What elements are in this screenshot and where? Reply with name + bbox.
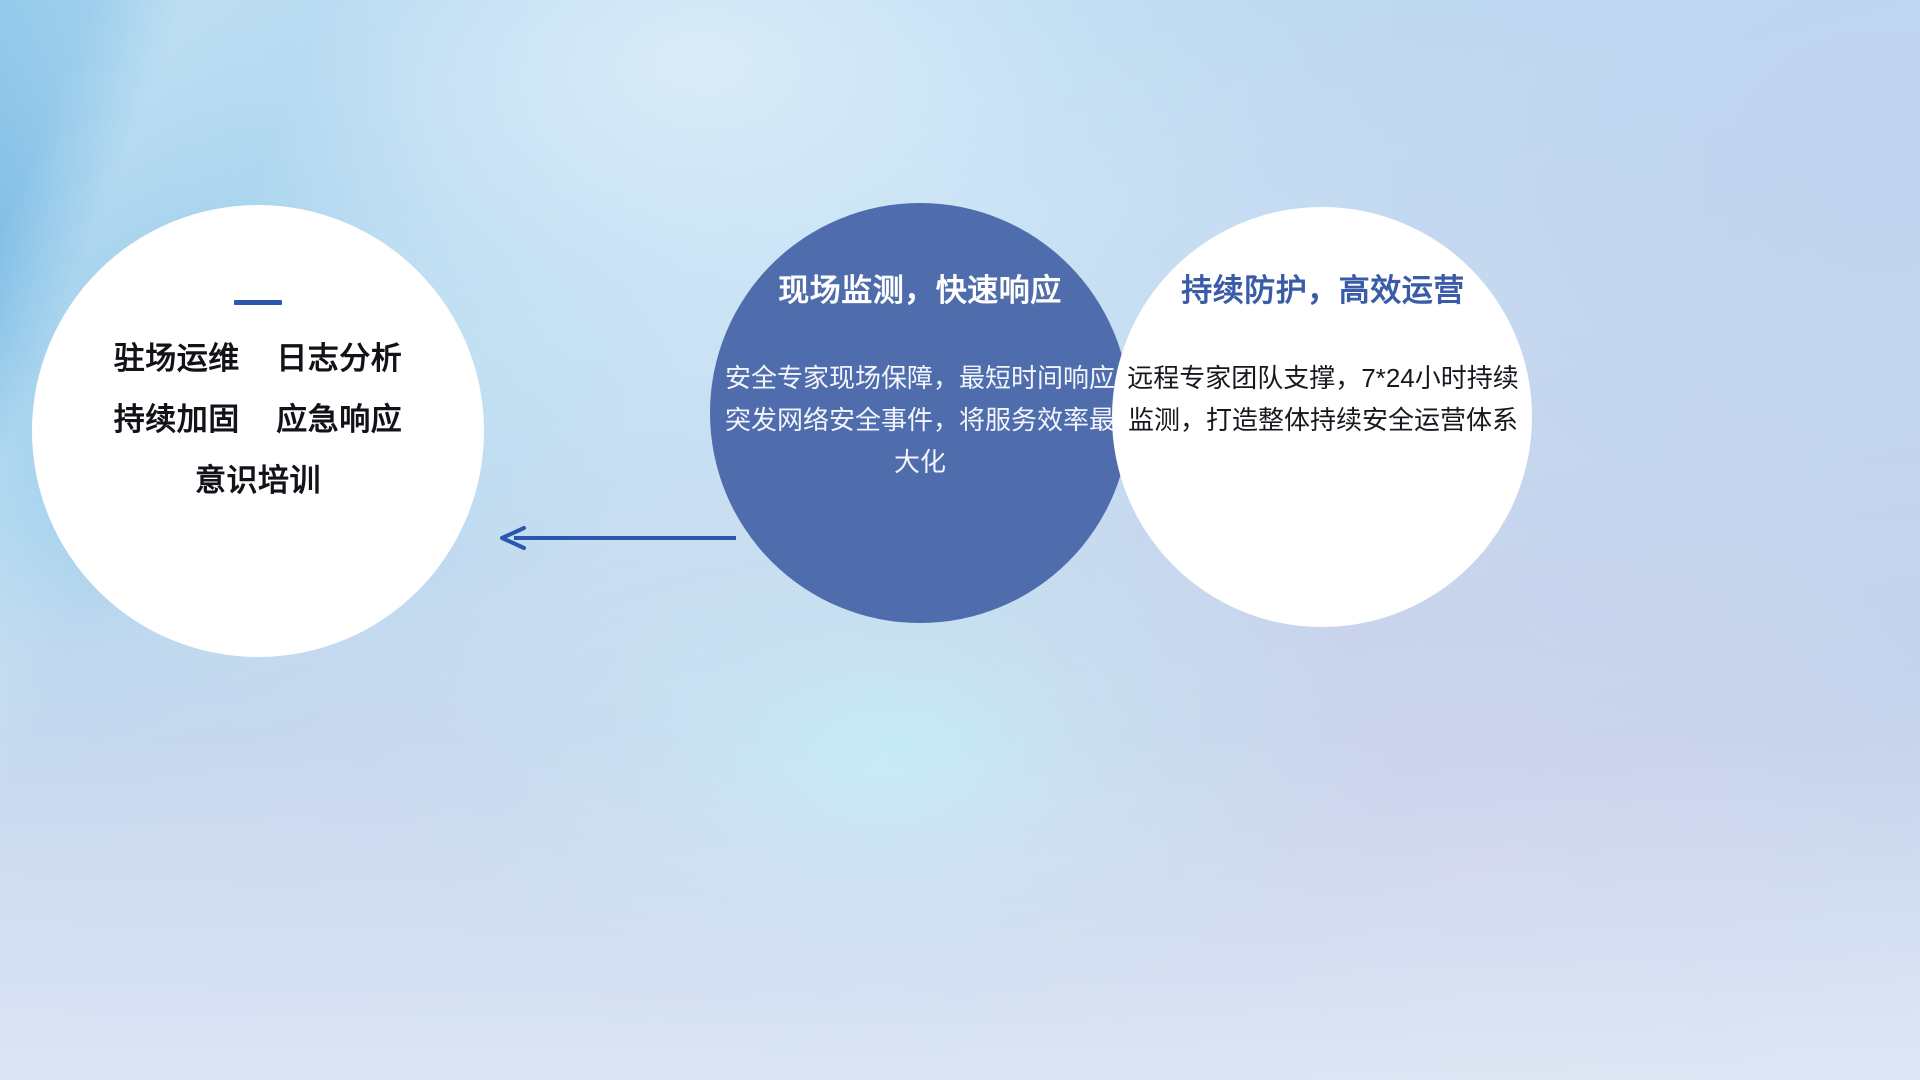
onsite-card: 现场监测，快速响应 安全专家现场保障，最短时间响应突发网络安全事件，将服务效率最… — [722, 272, 1118, 484]
horizontal-rule-icon — [234, 300, 282, 305]
slide-canvas: 驻场运维 日志分析 持续加固 应急响应 意识培训 现场监测，快速响应 安全专家现… — [0, 0, 1920, 1080]
continuous-card-title: 持续防护，高效运营 — [1122, 272, 1524, 309]
continuous-card-body: 远程专家团队支撑，7*24小时持续监测，打造整体持续安全运营体系 — [1122, 357, 1524, 441]
arrow-left-icon — [488, 525, 736, 551]
onsite-card-title: 现场监测，快速响应 — [722, 272, 1118, 309]
capabilities-card: 驻场运维 日志分析 持续加固 应急响应 意识培训 — [52, 300, 464, 496]
onsite-card-body: 安全专家现场保障，最短时间响应突发网络安全事件，将服务效率最大化 — [722, 357, 1118, 483]
capability-line-2: 持续加固 应急响应 — [52, 404, 464, 435]
continuous-card: 持续防护，高效运营 远程专家团队支撑，7*24小时持续监测，打造整体持续安全运营… — [1122, 272, 1524, 441]
capability-line-3: 意识培训 — [52, 465, 464, 496]
capability-line-1: 驻场运维 日志分析 — [52, 343, 464, 374]
connector-arrow — [488, 525, 736, 551]
